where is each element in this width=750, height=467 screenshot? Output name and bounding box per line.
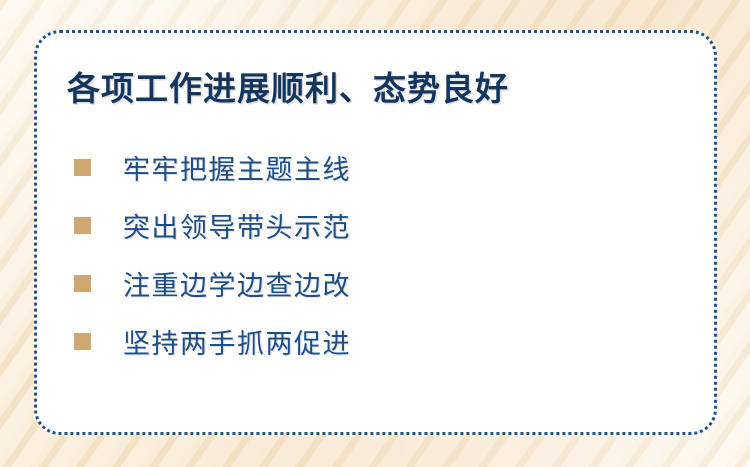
square-bullet-icon — [74, 333, 91, 350]
list-item: 突出领导带头示范 — [74, 196, 351, 254]
list-item-label: 牢牢把握主题主线 — [123, 148, 351, 187]
list-item: 注重边学边查边改 — [74, 254, 351, 312]
list-item-label: 突出领导带头示范 — [123, 206, 351, 245]
list-item: 牢牢把握主题主线 — [74, 138, 351, 196]
page-title: 各项工作进展顺利、态势良好 — [67, 72, 509, 108]
content-panel-inner: 各项工作进展顺利、态势良好 牢牢把握主题主线 突出领导带头示范 注重边学边查边改 — [34, 30, 717, 435]
content-panel: 各项工作进展顺利、态势良好 牢牢把握主题主线 突出领导带头示范 注重边学边查边改 — [34, 30, 717, 435]
list-item: 坚持两手抓两促进 — [74, 312, 351, 370]
square-bullet-icon — [74, 275, 91, 292]
square-bullet-icon — [74, 159, 91, 176]
list-item-label: 注重边学边查边改 — [123, 264, 351, 303]
list-item-label: 坚持两手抓两促进 — [123, 322, 351, 361]
bullet-list: 牢牢把握主题主线 突出领导带头示范 注重边学边查边改 坚持两手抓两促进 — [74, 138, 351, 370]
slide-canvas: 各项工作进展顺利、态势良好 牢牢把握主题主线 突出领导带头示范 注重边学边查边改 — [0, 0, 750, 467]
square-bullet-icon — [74, 217, 91, 234]
